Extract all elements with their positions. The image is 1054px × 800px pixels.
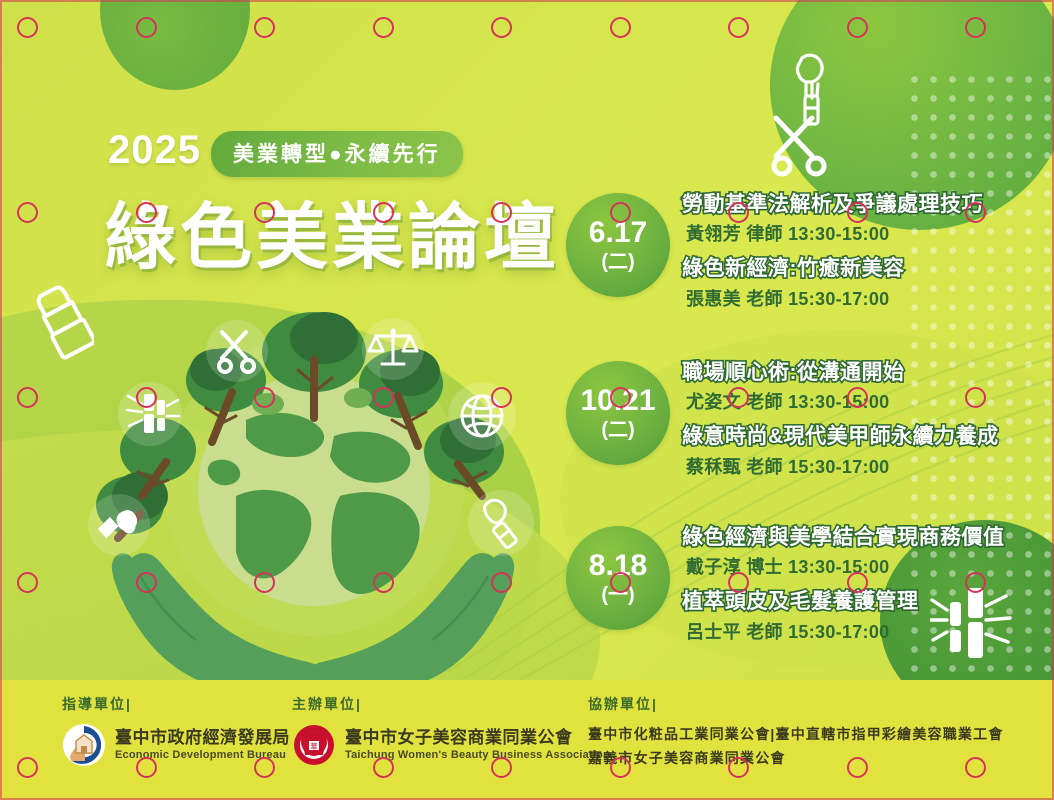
- decorative-ring: [728, 572, 749, 593]
- decorative-ring: [373, 387, 394, 408]
- decorative-ring: [610, 202, 631, 223]
- decorative-ring: [847, 202, 868, 223]
- decorative-ring: [17, 387, 38, 408]
- decorative-ring: [136, 757, 157, 778]
- decorative-ring: [373, 17, 394, 38]
- decorative-ring: [610, 17, 631, 38]
- decorative-ring: [491, 757, 512, 778]
- decorative-ring: [610, 757, 631, 778]
- decorative-ring: [491, 387, 512, 408]
- decorative-ring: [136, 387, 157, 408]
- decorative-ring: [373, 757, 394, 778]
- decorative-ring: [610, 387, 631, 408]
- decorative-ring: [17, 757, 38, 778]
- poster-canvas: 2025 美業轉型●永續先行 綠色美業論壇 6.17 (二) 勞動基準法解析及爭…: [0, 0, 1054, 800]
- decorative-ring: [728, 387, 749, 408]
- decorative-ring: [17, 17, 38, 38]
- decorative-ring: [847, 387, 868, 408]
- decorative-ring: [136, 17, 157, 38]
- decorative-ring: [728, 202, 749, 223]
- decorative-ring: [136, 202, 157, 223]
- decorative-ring: [373, 572, 394, 593]
- decorative-ring: [254, 202, 275, 223]
- decorative-ring: [373, 202, 394, 223]
- decorative-ring: [254, 387, 275, 408]
- decorative-ring: [254, 572, 275, 593]
- decorative-ring: [965, 202, 986, 223]
- decorative-ring: [610, 572, 631, 593]
- ring-overlay-grid: [0, 0, 1054, 800]
- decorative-ring: [491, 17, 512, 38]
- decorative-ring: [728, 17, 749, 38]
- decorative-ring: [491, 572, 512, 593]
- decorative-ring: [965, 17, 986, 38]
- decorative-ring: [847, 572, 868, 593]
- decorative-ring: [728, 757, 749, 778]
- decorative-ring: [254, 757, 275, 778]
- decorative-ring: [491, 202, 512, 223]
- decorative-ring: [847, 17, 868, 38]
- decorative-ring: [965, 572, 986, 593]
- decorative-ring: [17, 202, 38, 223]
- decorative-ring: [965, 387, 986, 408]
- decorative-ring: [847, 757, 868, 778]
- decorative-ring: [17, 572, 38, 593]
- decorative-ring: [254, 17, 275, 38]
- decorative-ring: [136, 572, 157, 593]
- decorative-ring: [965, 757, 986, 778]
